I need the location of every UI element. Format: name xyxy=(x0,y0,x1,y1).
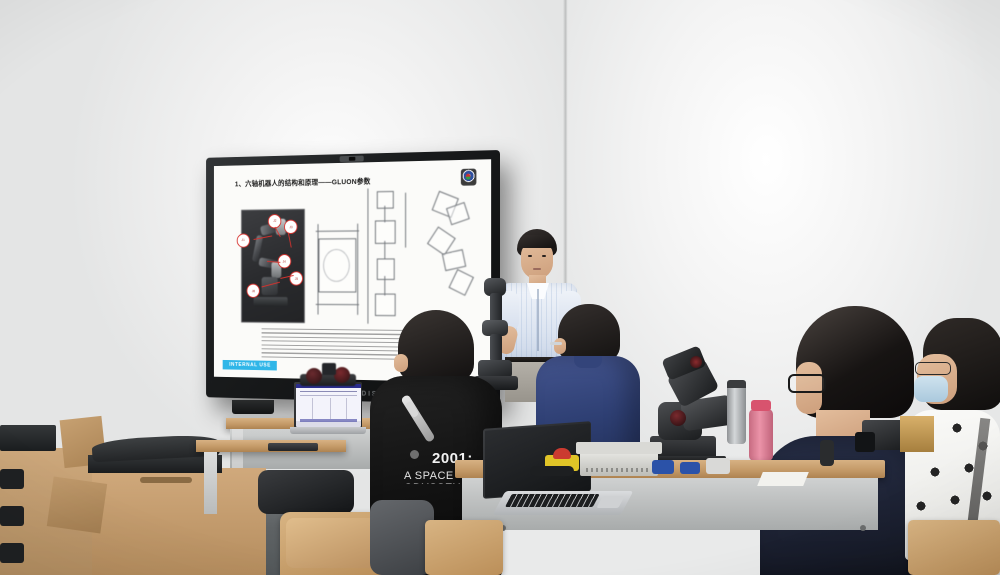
chair-center[interactable] xyxy=(425,520,503,575)
laptop-left[interactable] xyxy=(290,382,366,440)
mask-strap xyxy=(550,342,562,345)
thermos-flask xyxy=(727,382,746,444)
slide-callout: J1 xyxy=(236,233,249,247)
pink-water-bottle[interactable] xyxy=(749,409,773,461)
slide-callout: J6 xyxy=(247,284,260,298)
paper-sheet xyxy=(757,472,809,486)
robot-arm-desk xyxy=(300,360,356,390)
display-camera-icon xyxy=(340,156,364,162)
foam-insert xyxy=(0,469,24,489)
foam-insert xyxy=(0,506,24,526)
eyeglasses-icon xyxy=(915,362,951,375)
classroom-scene: COMMERCIAL DISPLAY 1、六轴机器人的结构和原理——GLUON参… xyxy=(0,0,1000,575)
cable-coil xyxy=(820,440,834,466)
desk-side-leg xyxy=(204,452,217,514)
box-handle xyxy=(140,477,192,483)
box-flap xyxy=(47,476,107,533)
cardboard-box-right xyxy=(92,468,266,575)
foam-case-left xyxy=(0,425,56,451)
macbook-keyboard[interactable] xyxy=(493,491,634,515)
keyboard[interactable] xyxy=(268,443,318,451)
blue-connector xyxy=(652,460,674,474)
eyeglasses-icon xyxy=(788,374,826,393)
controller-lid xyxy=(576,442,662,454)
company-emblem-icon xyxy=(461,168,477,185)
slide-title: 1、六轴机器人的结构和原理——GLUON参数 xyxy=(235,176,371,188)
backpack xyxy=(258,470,354,514)
cable-bundle xyxy=(530,466,574,476)
desk-screw xyxy=(860,525,866,531)
display-mount xyxy=(232,400,274,414)
cad-side-view xyxy=(365,188,410,324)
white-module xyxy=(706,458,730,474)
internal-use-badge: INTERNAL USE xyxy=(223,360,277,371)
chair-back xyxy=(286,518,376,568)
chair-right[interactable] xyxy=(908,520,1000,575)
cad-front-view xyxy=(315,223,359,314)
controller-box xyxy=(580,452,658,476)
foam-insert xyxy=(0,543,24,563)
wood-block xyxy=(900,416,934,452)
slide-callout: J5 xyxy=(290,271,304,285)
emergency-stop-button[interactable] xyxy=(553,448,571,459)
blue-connector xyxy=(680,462,700,474)
face-mask xyxy=(914,376,948,402)
slide-callout: J3 xyxy=(284,220,298,234)
